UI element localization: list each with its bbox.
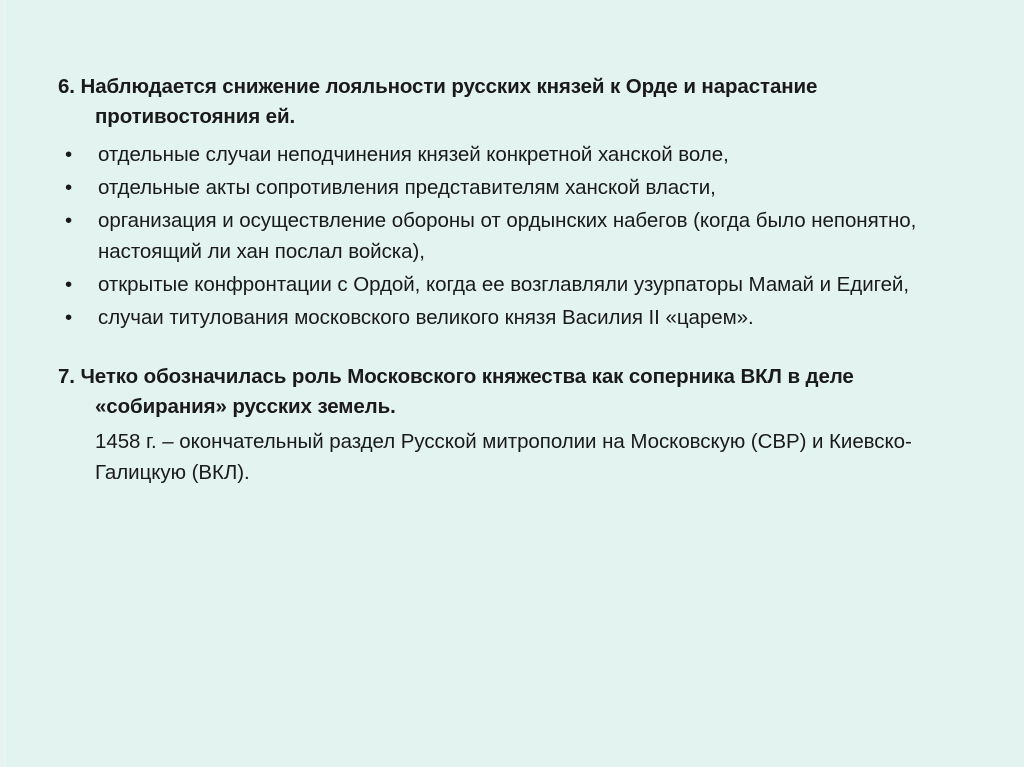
list-item-label: отдельные акты сопротивления представите… — [98, 176, 716, 199]
bullet-marker-icon: • — [65, 269, 72, 300]
list-item: • открытые конфронтации с Ордой, когда е… — [58, 269, 958, 300]
bullet-marker-icon: • — [65, 139, 72, 170]
list-item: • отдельные акты сопротивления представи… — [58, 172, 958, 203]
list-item: • случаи титулования московского великог… — [58, 302, 958, 333]
list-item-label: случаи титулования московского великого … — [98, 306, 754, 329]
bullet-marker-icon: • — [65, 172, 72, 203]
heading-item-7: 7. Четко обозначилась роль Московского к… — [58, 362, 958, 422]
list-item: • отдельные случаи неподчинения князей к… — [58, 139, 958, 170]
slide-content: 6. Наблюдается снижение лояльности русск… — [58, 72, 958, 488]
list-item: • организация и осуществление обороны от… — [58, 205, 958, 267]
bullet-marker-icon: • — [65, 302, 72, 333]
list-item-label: открытые конфронтации с Ордой, когда ее … — [98, 273, 909, 296]
slide-canvas: 6. Наблюдается снижение лояльности русск… — [0, 0, 1024, 767]
bullet-list-item-6: • отдельные случаи неподчинения князей к… — [58, 139, 958, 333]
bullet-marker-icon: • — [65, 205, 72, 236]
note-paragraph-item-7: 1458 г. – окончательный раздел Русской м… — [58, 426, 958, 488]
list-item-label: организация и осуществление обороны от о… — [98, 209, 916, 263]
heading-item-6: 6. Наблюдается снижение лояльности русск… — [58, 72, 958, 132]
list-item-label: отдельные случаи неподчинения князей кон… — [98, 143, 729, 166]
